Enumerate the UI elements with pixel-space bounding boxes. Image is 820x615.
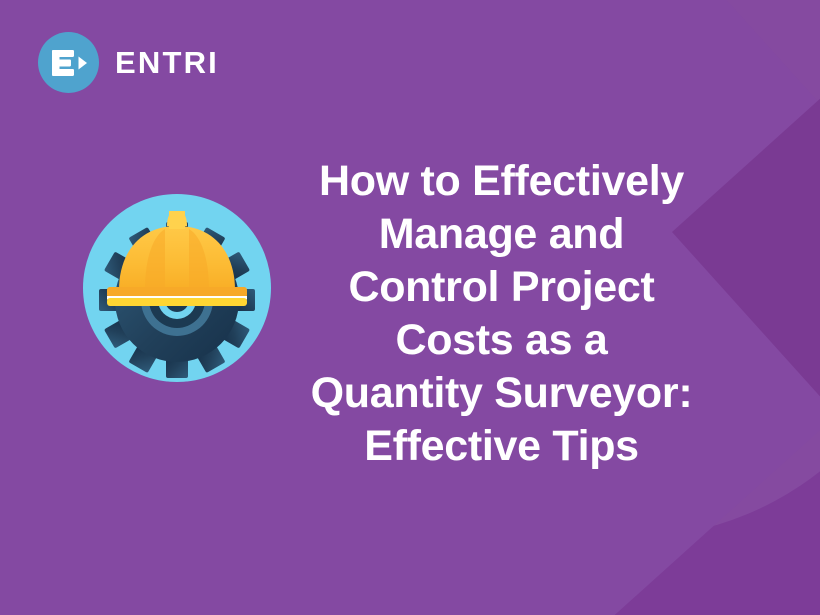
brand-wordmark: ENTRI — [115, 47, 219, 78]
title-line: Effective Tips — [283, 420, 720, 473]
blog-banner: ENTRI — [0, 0, 820, 615]
title-line: Costs as a — [283, 314, 720, 367]
brand-logo[interactable]: ENTRI — [38, 32, 219, 93]
title-line: Control Project — [283, 261, 720, 314]
page-title: How to Effectively Manage and Control Pr… — [283, 155, 720, 474]
title-line: Manage and — [283, 208, 720, 261]
hard-hat-gear-illustration — [81, 192, 273, 384]
title-line: How to Effectively — [283, 155, 720, 208]
entri-e-play-icon — [38, 32, 99, 93]
title-line: Quantity Surveyor: — [283, 367, 720, 420]
